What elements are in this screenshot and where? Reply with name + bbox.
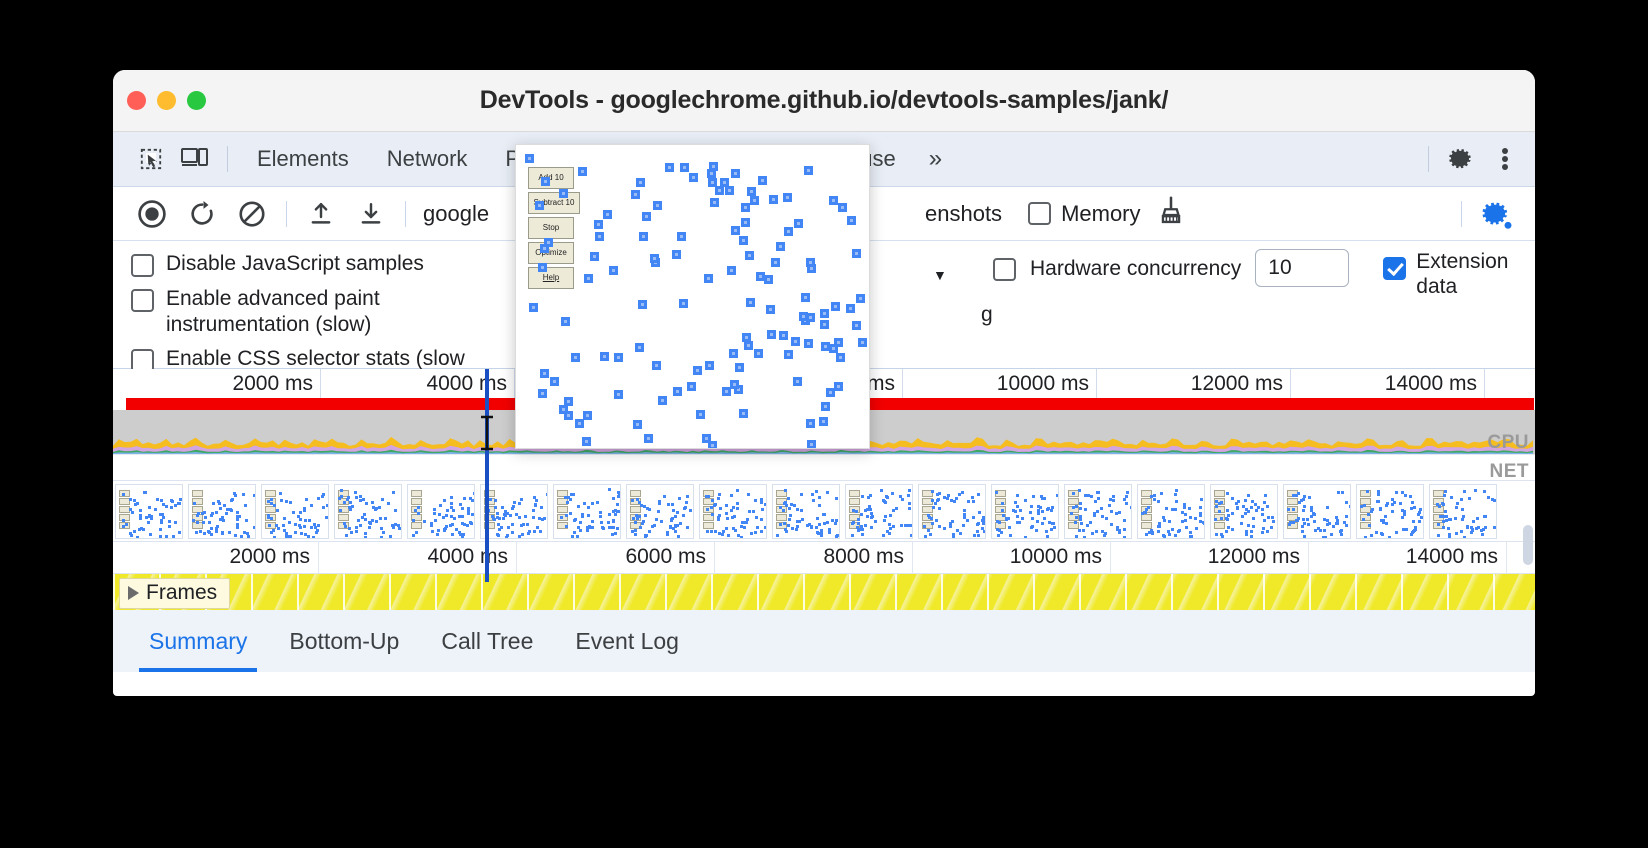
filmstrip-square xyxy=(1289,521,1292,524)
filmstrip-square xyxy=(1215,505,1218,508)
filmstrip-square xyxy=(1115,512,1118,515)
filmstrip-square xyxy=(1474,489,1477,492)
hardware-concurrency-checkbox[interactable] xyxy=(993,258,1016,281)
jank-square xyxy=(846,304,855,313)
filmstrip-square xyxy=(1340,533,1343,536)
filmstrip-square xyxy=(963,513,966,516)
disable-js-samples-checkbox[interactable] xyxy=(131,254,154,277)
jank-square xyxy=(696,410,705,419)
jank-square xyxy=(819,417,828,426)
filmstrip-square xyxy=(218,502,221,505)
collect-garbage-icon[interactable] xyxy=(1157,196,1185,231)
filmstrip-square xyxy=(636,517,639,520)
filmstrip-square xyxy=(221,516,224,519)
filmstrip-square xyxy=(760,501,763,504)
filmstrip-square xyxy=(978,511,981,514)
filmstrip-square xyxy=(412,519,415,522)
filmstrip-square xyxy=(1153,494,1156,497)
filmstrip-square xyxy=(1376,500,1379,503)
jank-add-10-button[interactable]: Add 10 xyxy=(528,167,574,189)
chevron-down-icon[interactable]: ▼ xyxy=(933,267,947,283)
filmstrip-square xyxy=(565,525,568,528)
filmstrip-square xyxy=(1043,517,1046,520)
jank-square xyxy=(614,353,623,362)
screenshots-label[interactable]: enshots xyxy=(925,201,1002,227)
filmstrip-frame[interactable] xyxy=(1137,484,1205,539)
tab-call-tree[interactable]: Call Tree xyxy=(425,610,549,672)
filmstrip-square xyxy=(672,509,675,512)
filmstrip-square xyxy=(997,534,1000,537)
filmstrip-square xyxy=(998,521,1001,524)
filmstrip-square xyxy=(817,532,820,535)
filmstrip-square xyxy=(671,503,674,506)
inspect-icon[interactable] xyxy=(129,137,173,181)
jank-square xyxy=(856,294,865,303)
filmstrip-square xyxy=(463,497,466,500)
filmstrip-square xyxy=(860,513,863,516)
filmstrip-square xyxy=(174,504,177,507)
filmstrip-frame[interactable] xyxy=(480,484,548,539)
advanced-paint-label: Enable advanced paint instrumentation (s… xyxy=(166,286,496,337)
tabbar-right-divider xyxy=(1428,146,1429,172)
filmstrip-frame[interactable] xyxy=(553,484,621,539)
filmstrip-square xyxy=(1215,533,1218,536)
filmstrip-square xyxy=(1455,506,1458,509)
filmstrip-square xyxy=(1079,518,1082,521)
filmstrip-square xyxy=(1231,528,1234,531)
filmstrip-square xyxy=(857,529,860,532)
jank-square xyxy=(650,254,659,263)
window-titlebar: DevTools - googlechrome.github.io/devtoo… xyxy=(113,70,1535,132)
filmstrip-square xyxy=(394,523,397,526)
filmstrip-square xyxy=(415,531,418,534)
filmstrip-square xyxy=(801,518,804,521)
filmstrip-square xyxy=(511,523,514,526)
jank-square xyxy=(783,193,792,202)
filmstrip-square xyxy=(764,503,767,506)
jank-square xyxy=(807,440,816,449)
filmstrip-square xyxy=(199,530,202,533)
filmstrip-square xyxy=(1105,517,1108,520)
filmstrip-square xyxy=(1091,532,1094,535)
filmstrip-square xyxy=(298,524,301,527)
filmstrip-square xyxy=(507,526,510,529)
filmstrip-square xyxy=(536,526,539,529)
filmstrip-square xyxy=(574,518,577,521)
filmstrip-square xyxy=(535,499,538,502)
filmstrip-square xyxy=(1448,536,1451,539)
jank-square xyxy=(858,338,867,347)
filmstrip-frame[interactable] xyxy=(407,484,475,539)
filmstrip-square xyxy=(450,502,453,505)
jank-square xyxy=(590,252,599,261)
jank-square xyxy=(784,350,793,359)
jank-square xyxy=(561,317,570,326)
jank-square xyxy=(559,405,568,414)
filmstrip-square xyxy=(497,534,500,537)
jank-square xyxy=(582,437,591,446)
filmstrip-square xyxy=(207,530,210,533)
filmstrip-frame[interactable] xyxy=(1210,484,1278,539)
filmstrip-square xyxy=(938,525,941,528)
filmstrip-square xyxy=(1308,496,1311,499)
filmstrip-square xyxy=(149,533,152,536)
filmstrip-square xyxy=(1079,507,1082,510)
jank-square xyxy=(575,419,584,428)
filmstrip-square xyxy=(524,515,527,518)
filmstrip-square xyxy=(192,519,195,522)
filmstrip-square xyxy=(371,501,374,504)
filmstrip-square xyxy=(165,505,168,508)
filmstrip-square xyxy=(779,506,782,509)
timeline-playhead[interactable] xyxy=(485,369,489,582)
filmstrip-frame-button xyxy=(776,514,787,521)
filmstrip-square xyxy=(717,516,720,519)
filmstrip-square xyxy=(1045,530,1048,533)
filmstrip-square xyxy=(967,500,970,503)
filmstrip-square xyxy=(815,490,818,493)
filmstrip-square xyxy=(143,491,146,494)
jank-square xyxy=(687,382,696,391)
filmstrip-square xyxy=(147,521,150,524)
filmstrip-square xyxy=(414,509,417,512)
filmstrip-square xyxy=(1366,490,1369,493)
memory-label[interactable]: Memory xyxy=(1061,201,1140,227)
filmstrip-square xyxy=(136,536,139,539)
filmstrip-square xyxy=(870,526,873,529)
filmstrip-square xyxy=(437,529,440,532)
filmstrip-frame[interactable] xyxy=(845,484,913,539)
tabbar-divider xyxy=(227,146,228,172)
filmstrip-square xyxy=(195,531,198,534)
filmstrip-square xyxy=(156,498,159,501)
filmstrip-square xyxy=(1245,530,1248,533)
filmstrip-square xyxy=(570,493,573,496)
filmstrip-square xyxy=(1330,533,1333,536)
playhead-handle[interactable] xyxy=(479,415,495,449)
filmstrip-square xyxy=(538,517,541,520)
filmstrip-square xyxy=(494,506,497,509)
filmstrip-square xyxy=(1247,524,1250,527)
filmstrip-frame-button xyxy=(265,490,276,497)
overview-scrollbar[interactable] xyxy=(1523,369,1533,610)
toolbar-divider-1 xyxy=(286,201,287,227)
filmstrip-frame[interactable] xyxy=(1356,484,1424,539)
filmstrip-square xyxy=(470,522,473,525)
jank-square xyxy=(680,163,689,172)
filmstrip-frame[interactable] xyxy=(1283,484,1351,539)
kebab-menu-icon[interactable] xyxy=(1483,137,1527,181)
filmstrip-square xyxy=(1301,530,1304,533)
filmstrip-square xyxy=(640,504,643,507)
filmstrip-square xyxy=(1183,503,1186,506)
filmstrip-square xyxy=(880,489,883,492)
filmstrip-square xyxy=(614,532,617,535)
filmstrip-frame[interactable] xyxy=(188,484,256,539)
filmstrip-square xyxy=(1444,510,1447,513)
filmstrip-square xyxy=(826,491,829,494)
filmstrip-square xyxy=(1323,529,1326,532)
jank-square xyxy=(829,344,838,353)
filmstrip-square xyxy=(936,499,939,502)
filmstrip-square xyxy=(238,515,241,518)
filmstrip-square xyxy=(1292,508,1295,511)
jank-help-button[interactable]: Help xyxy=(528,267,574,289)
frames-track[interactable]: Frames xyxy=(113,574,1535,610)
hardware-concurrency-label: Hardware concurrency xyxy=(1030,257,1241,281)
filmstrip-square xyxy=(313,523,316,526)
filmstrip-square xyxy=(236,511,239,514)
filmstrip-square xyxy=(1388,536,1391,539)
filmstrip-square xyxy=(818,523,821,526)
filmstrip-square xyxy=(273,536,276,539)
filmstrip-square xyxy=(467,512,470,515)
filmstrip-square xyxy=(1493,526,1496,529)
filmstrip-square xyxy=(1050,509,1053,512)
gear-icon[interactable] xyxy=(1439,137,1483,181)
filmstrip-square xyxy=(888,523,891,526)
filmstrip-square xyxy=(349,501,352,504)
filmstrip-square xyxy=(810,526,813,529)
filmstrip-square xyxy=(973,534,976,537)
jank-square xyxy=(538,263,547,272)
filmstrip-square xyxy=(240,535,243,538)
filmstrip-square xyxy=(820,531,823,534)
filmstrip-square xyxy=(312,536,315,539)
filmstrip-frame[interactable] xyxy=(1429,484,1497,539)
filmstrip-square xyxy=(1052,522,1055,525)
filmstrip-square xyxy=(634,521,637,524)
filmstrip-square xyxy=(1468,497,1471,500)
hardware-concurrency-input[interactable]: 10 xyxy=(1255,249,1349,287)
filmstrip-frame[interactable] xyxy=(1064,484,1132,539)
filmstrip-square xyxy=(364,532,367,535)
window-traffic-lights[interactable] xyxy=(127,91,206,110)
filmstrip-frame[interactable] xyxy=(261,484,329,539)
filmstrip-frame-button xyxy=(338,514,349,521)
jank-square xyxy=(594,220,603,229)
filmstrip-square xyxy=(1439,515,1442,518)
filmstrip-square xyxy=(929,533,932,536)
filmstrip-square xyxy=(711,513,714,516)
memory-checkbox[interactable] xyxy=(1028,202,1051,225)
filmstrip-square xyxy=(1041,510,1044,513)
filmstrip-square xyxy=(308,519,311,522)
filmstrip-square xyxy=(1227,526,1230,529)
advanced-paint-checkbox[interactable] xyxy=(131,289,154,312)
overview-scrollbar-thumb[interactable] xyxy=(1523,525,1533,565)
download-profile-icon[interactable] xyxy=(346,189,396,239)
jank-square xyxy=(754,349,763,358)
close-window-button[interactable] xyxy=(127,91,146,110)
filmstrip[interactable] xyxy=(113,480,1535,542)
jank-square xyxy=(673,387,682,396)
filmstrip-square xyxy=(1203,522,1205,525)
filmstrip-square xyxy=(966,519,969,522)
filmstrip-square xyxy=(270,502,273,505)
window-title: DevTools - googlechrome.github.io/devtoo… xyxy=(113,86,1535,115)
record-icon[interactable] xyxy=(127,189,177,239)
filmstrip-square xyxy=(513,501,516,504)
maximize-window-button[interactable] xyxy=(187,91,206,110)
filmstrip-square xyxy=(122,525,125,528)
filmstrip-square xyxy=(1272,520,1275,523)
filmstrip-square xyxy=(270,498,273,501)
jank-square xyxy=(689,173,698,182)
filmstrip-square xyxy=(1168,533,1171,536)
device-toolbar-icon[interactable] xyxy=(173,137,217,181)
filmstrip-square xyxy=(292,511,295,514)
jank-square xyxy=(636,178,645,187)
throttling-dropdown[interactable]: ▼ xyxy=(933,255,947,283)
jank-square xyxy=(540,244,549,253)
filmstrip-square xyxy=(340,489,343,492)
filmstrip-square xyxy=(573,531,576,534)
filmstrip-square xyxy=(934,502,937,505)
filmstrip-square xyxy=(1014,501,1017,504)
filmstrip-square xyxy=(736,489,739,492)
filmstrip-square xyxy=(1462,515,1465,518)
tab-elements[interactable]: Elements xyxy=(238,146,368,172)
filmstrip-square xyxy=(811,493,814,496)
filmstrip-square xyxy=(1123,519,1126,522)
filmstrip-square xyxy=(1382,521,1385,524)
filmstrip-frame-button xyxy=(1141,498,1152,505)
filmstrip-square xyxy=(666,531,669,534)
filmstrip-square xyxy=(1312,512,1315,515)
jank-square xyxy=(847,216,856,225)
filmstrip-square xyxy=(1008,526,1011,529)
tab-bottom-up[interactable]: Bottom-Up xyxy=(273,610,415,672)
filmstrip-square xyxy=(1083,536,1086,539)
filmstrip-square xyxy=(1417,513,1420,516)
filmstrip-square xyxy=(1412,520,1415,523)
filmstrip-square xyxy=(717,497,720,500)
filmstrip-square xyxy=(867,496,870,499)
filmstrip-square xyxy=(1037,509,1040,512)
filmstrip-square xyxy=(1461,518,1464,521)
filmstrip-square xyxy=(509,514,512,517)
filmstrip-square xyxy=(730,509,733,512)
jank-stop-button[interactable]: Stop xyxy=(528,217,574,239)
filmstrip-frame-button xyxy=(1287,498,1298,505)
filmstrip-square xyxy=(417,506,420,509)
jank-square xyxy=(829,196,838,205)
filmstrip-square xyxy=(371,519,374,522)
jank-demo-popup[interactable]: Add 10 Subtract 10 Stop Optimize Help xyxy=(515,144,870,449)
filmstrip-square xyxy=(788,507,791,510)
filmstrip-square xyxy=(489,498,492,501)
filmstrip-square xyxy=(743,526,746,529)
filmstrip-square xyxy=(796,508,799,511)
jank-square xyxy=(747,187,756,196)
filmstrip-square xyxy=(1174,493,1177,496)
tab-network[interactable]: Network xyxy=(368,146,487,172)
filmstrip-square xyxy=(134,503,137,506)
jank-square xyxy=(826,388,835,397)
filmstrip-square xyxy=(236,518,239,521)
filmstrip-square xyxy=(612,510,615,513)
filmstrip-square xyxy=(1075,505,1078,508)
filmstrip-square xyxy=(283,517,286,520)
filmstrip-square xyxy=(197,512,200,515)
jank-square xyxy=(793,377,802,386)
filmstrip-square xyxy=(1162,516,1165,519)
filmstrip-square xyxy=(1301,525,1304,528)
filmstrip-square xyxy=(1418,520,1421,523)
filmstrip-square xyxy=(1094,500,1097,503)
filmstrip-square xyxy=(527,532,530,535)
filmstrip-square xyxy=(541,518,544,521)
filmstrip-square xyxy=(714,530,717,533)
jank-square xyxy=(750,196,759,205)
jank-square xyxy=(735,363,744,372)
filmstrip-square xyxy=(1405,528,1408,531)
filmstrip-square xyxy=(294,531,297,534)
filmstrip-square xyxy=(645,534,648,537)
extension-data-checkbox[interactable] xyxy=(1383,257,1406,280)
net-overview-band[interactable]: NET xyxy=(113,454,1535,480)
filmstrip-square xyxy=(349,508,352,511)
filmstrip-square xyxy=(170,506,173,509)
tab-event-log[interactable]: Event Log xyxy=(559,610,695,672)
filmstrip-square xyxy=(882,534,885,537)
filmstrip-square xyxy=(125,523,128,526)
filmstrip-frame[interactable] xyxy=(699,484,767,539)
filmstrip-frame[interactable] xyxy=(918,484,986,539)
filmstrip-square xyxy=(1240,522,1243,525)
clear-icon[interactable] xyxy=(227,189,277,239)
filmstrip-square xyxy=(1470,526,1473,529)
filmstrip-square xyxy=(1183,506,1186,509)
filmstrip-square xyxy=(1241,515,1244,518)
filmstrip-square xyxy=(1001,509,1004,512)
jank-square xyxy=(804,339,813,348)
frames-expand-toggle[interactable]: Frames xyxy=(119,578,230,609)
filmstrip-square xyxy=(1483,515,1486,518)
upload-profile-icon[interactable] xyxy=(296,189,346,239)
filmstrip-frame[interactable] xyxy=(991,484,1059,539)
filmstrip-frame[interactable] xyxy=(772,484,840,539)
tab-summary[interactable]: Summary xyxy=(133,610,263,672)
jank-square xyxy=(784,227,793,236)
filmstrip-square xyxy=(1031,525,1034,528)
jank-square xyxy=(571,353,580,362)
reload-record-icon[interactable] xyxy=(177,189,227,239)
filmstrip-frame[interactable] xyxy=(334,484,402,539)
filmstrip-square xyxy=(503,513,506,516)
filmstrip-square xyxy=(1404,494,1407,497)
filmstrip-square xyxy=(445,525,448,528)
filmstrip-frame[interactable] xyxy=(115,484,183,539)
filmstrip-square xyxy=(1252,517,1255,520)
filmstrip-square xyxy=(511,507,514,510)
filmstrip-square xyxy=(631,499,634,502)
filmstrip-square xyxy=(1271,516,1274,519)
more-tabs-icon[interactable]: » xyxy=(915,145,954,173)
jank-square xyxy=(600,352,609,361)
jank-square xyxy=(730,380,739,389)
filmstrip-square xyxy=(566,501,569,504)
filmstrip-square xyxy=(943,496,946,499)
capture-settings-gear-icon[interactable] xyxy=(1471,189,1521,239)
filmstrip-square xyxy=(900,524,903,527)
minimize-window-button[interactable] xyxy=(157,91,176,110)
filmstrip-square xyxy=(305,498,308,501)
filmstrip-square xyxy=(1231,512,1234,515)
filmstrip-square xyxy=(1072,492,1075,495)
filmstrip-frame[interactable] xyxy=(626,484,694,539)
